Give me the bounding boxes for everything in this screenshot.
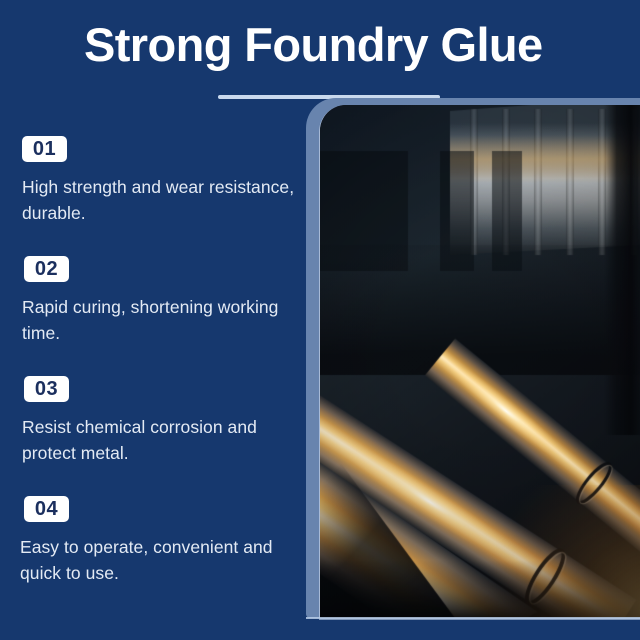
product-photo-panel — [320, 105, 640, 618]
photo-bottom-edge — [306, 617, 640, 619]
feature-description: Resist chemical corrosion and protect me… — [22, 414, 307, 466]
industrial-pipes-photo — [320, 105, 640, 618]
feature-number-badge: 04 — [24, 496, 69, 522]
feature-description: High strength and wear resistance, durab… — [22, 174, 307, 226]
feature-description: Rapid curing, shortening working time. — [22, 294, 307, 346]
feature-number-badge: 02 — [24, 256, 69, 282]
feature-description: Easy to operate, convenient and quick to… — [20, 534, 305, 586]
title-block: Strong Foundry Glue — [0, 16, 640, 96]
feature-number-badge: 01 — [22, 136, 67, 162]
feature-number-badge: 03 — [24, 376, 69, 402]
poster-root: Strong Foundry Glue 01 High strength and… — [0, 0, 640, 640]
page-title: Strong Foundry Glue — [84, 16, 543, 74]
